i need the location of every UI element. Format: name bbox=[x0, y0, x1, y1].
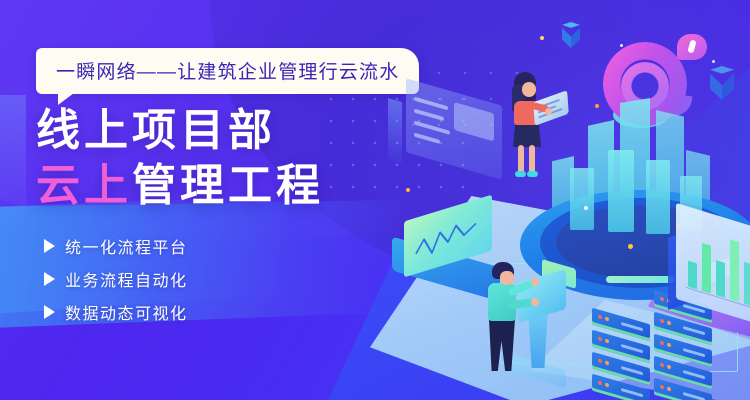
card-image-block bbox=[454, 102, 494, 141]
floating-cube bbox=[562, 22, 580, 48]
status-led bbox=[667, 320, 671, 325]
list-item: 统一化流程平台 bbox=[44, 234, 188, 258]
list-item: 业务流程自动化 bbox=[44, 267, 188, 291]
chart-bar bbox=[730, 239, 739, 302]
sparkle-dot bbox=[584, 206, 588, 210]
translucent-info-card bbox=[406, 78, 502, 180]
face bbox=[522, 82, 536, 97]
platform-indicator-bar bbox=[606, 276, 674, 283]
bullet-label: 数据动态可视化 bbox=[65, 300, 188, 324]
server-label-strip bbox=[621, 388, 643, 397]
status-led bbox=[660, 340, 664, 345]
headline-group: 线上项目部 云上管理工程 bbox=[36, 108, 324, 209]
man-at-kiosk bbox=[476, 262, 546, 382]
triangle-right-icon bbox=[44, 239, 55, 253]
hand bbox=[531, 298, 539, 306]
headline-line-1: 线上项目部 bbox=[36, 108, 324, 155]
chart-bar bbox=[702, 243, 711, 294]
triangle-right-icon bbox=[44, 305, 55, 319]
tagline-text: 一瞬网络——让建筑企业管理行云流水 bbox=[56, 62, 399, 83]
cube-left-face bbox=[562, 28, 571, 48]
status-led bbox=[605, 360, 609, 365]
platform-pillar bbox=[646, 160, 670, 234]
platform-pillar bbox=[570, 168, 594, 230]
card-line bbox=[414, 121, 450, 135]
status-led bbox=[660, 384, 664, 389]
floating-cube bbox=[710, 66, 734, 100]
face bbox=[500, 271, 514, 285]
woman-with-tablet bbox=[498, 70, 558, 182]
card-line bbox=[414, 109, 444, 122]
headline-line-2: 云上管理工程 bbox=[36, 163, 324, 210]
feature-bullet-list: 统一化流程平台 业务流程自动化 数据动态可视化 bbox=[44, 234, 188, 333]
skirt bbox=[513, 123, 541, 147]
status-led bbox=[605, 338, 609, 343]
chart-bar bbox=[716, 260, 725, 298]
legs bbox=[489, 319, 515, 371]
headline-rest: 管理工程 bbox=[132, 161, 324, 210]
status-led bbox=[660, 318, 664, 323]
cube-left-face bbox=[710, 73, 722, 100]
status-led bbox=[667, 386, 671, 391]
tagline-bubble: 一瞬网络——让建筑企业管理行云流水 bbox=[36, 48, 419, 94]
bullet-label: 统一化流程平台 bbox=[65, 234, 188, 258]
headline-highlight: 云上 bbox=[36, 161, 132, 210]
chat-bubble-icon bbox=[677, 34, 707, 60]
status-led bbox=[598, 336, 602, 341]
card-line bbox=[414, 97, 448, 111]
chart-bar bbox=[744, 262, 750, 307]
left-edge-highlight bbox=[0, 95, 26, 235]
cube-right-face bbox=[571, 28, 580, 48]
shoe bbox=[527, 171, 538, 177]
server-label-strip bbox=[683, 326, 705, 335]
left-accent-bar bbox=[388, 98, 402, 164]
list-item: 数据动态可视化 bbox=[44, 300, 188, 324]
status-led bbox=[598, 358, 602, 363]
sparkle-dot bbox=[628, 244, 633, 249]
chart-bar bbox=[688, 261, 697, 290]
hand bbox=[531, 278, 539, 286]
hand bbox=[545, 108, 552, 115]
server-label-strip bbox=[683, 370, 705, 379]
shoe bbox=[515, 171, 526, 177]
status-led bbox=[605, 316, 609, 321]
server-label-strip bbox=[621, 322, 643, 331]
status-led bbox=[667, 364, 671, 369]
isometric-illustration bbox=[380, 0, 750, 400]
status-led bbox=[667, 342, 671, 347]
status-led bbox=[660, 362, 664, 367]
status-led bbox=[605, 382, 609, 387]
server-label-strip bbox=[683, 392, 705, 400]
server-label-strip bbox=[621, 344, 643, 353]
platform-pillar bbox=[608, 150, 634, 232]
server-label-strip bbox=[683, 348, 705, 357]
triangle-right-icon bbox=[44, 272, 55, 286]
leg bbox=[518, 145, 524, 173]
status-led bbox=[598, 380, 602, 385]
promotional-banner: 一瞬网络——让建筑企业管理行云流水 线上项目部 云上管理工程 统一化流程平台 业… bbox=[0, 0, 750, 400]
server-label-strip bbox=[621, 366, 643, 375]
status-led bbox=[598, 314, 602, 319]
leg bbox=[529, 145, 535, 173]
card-line bbox=[414, 133, 440, 144]
status-led bbox=[660, 296, 664, 301]
cube-right-face bbox=[722, 73, 734, 100]
bullet-label: 业务流程自动化 bbox=[65, 267, 188, 291]
